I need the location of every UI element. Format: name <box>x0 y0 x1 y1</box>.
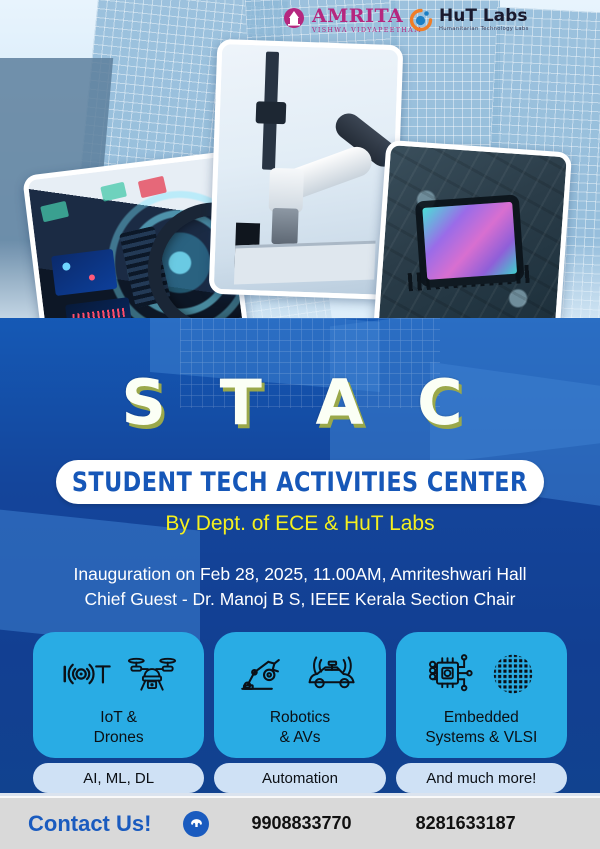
drone-icon <box>127 655 177 693</box>
telephone-icon[interactable] <box>183 811 209 837</box>
amrita-logo-subtitle: VISHWA VIDYAPEETHAM <box>312 27 422 33</box>
robot-wrist <box>269 168 305 213</box>
byline: By Dept. of ECE & HuT Labs <box>0 512 600 536</box>
category-card-robotics-avs[interactable]: Robotics & AVs <box>214 632 385 758</box>
robot-gripper <box>271 208 298 245</box>
chip-die <box>422 202 517 280</box>
category-label-line-1: Robotics <box>270 708 330 728</box>
phone-number-1[interactable]: 9908833770 <box>251 813 351 834</box>
footer: Contact Us! 9908833770 8281633187 <box>0 798 600 849</box>
microchip-icon <box>426 653 476 695</box>
silicon-wafer-icon <box>490 653 536 695</box>
amrita-logo: AMRITA VISHWA VIDYAPEETHAM <box>283 7 422 33</box>
category-label-line-2: & AVs <box>270 728 330 748</box>
page-title-capsule: STUDENT TECH ACTIVITIES CENTER <box>56 460 544 504</box>
topic-pill-list: AI, ML, DL Automation And much more! <box>33 763 567 793</box>
topic-pill-ai-ml-dl[interactable]: AI, ML, DL <box>33 763 204 793</box>
contact-label: Contact Us! <box>28 811 151 837</box>
telephone-glyph-icon <box>189 816 204 831</box>
robot-joint <box>256 101 287 124</box>
category-label-line-1: IoT & <box>94 708 144 728</box>
hud-marker-green-2 <box>100 182 127 202</box>
page-title-acronym: S T A C <box>0 372 600 434</box>
iot-icon <box>61 656 113 692</box>
top-photo-band: AMRITA VISHWA VIDYAPEETHAM HuT Labs Huma… <box>0 0 600 360</box>
hut-labs-logo-title: HuT Labs <box>439 8 529 25</box>
robot-arm-icon <box>239 654 289 694</box>
hut-labs-logo: HuT Labs Humanitarian Technology Labs <box>409 8 529 32</box>
category-card-list: IoT & Drones <box>33 632 567 758</box>
amrita-emblem-icon <box>283 7 305 33</box>
robot-arm-photo <box>209 39 404 300</box>
category-label-line-2: Drones <box>94 728 144 748</box>
poster: AMRITA VISHWA VIDYAPEETHAM HuT Labs Huma… <box>0 0 600 849</box>
page-title-expansion: STUDENT TECH ACTIVITIES CENTER <box>72 467 528 498</box>
amrita-logo-title: AMRITA <box>312 7 422 26</box>
hud-marker-red <box>138 176 167 198</box>
category-label-line-1: Embedded <box>425 708 537 728</box>
hut-labs-swoosh-icon <box>409 8 433 32</box>
work-surface <box>234 241 376 285</box>
category-card-embedded-vlsi[interactable]: Embedded Systems & VLSI <box>396 632 567 758</box>
topic-pill-automation[interactable]: Automation <box>214 763 385 793</box>
hut-labs-logo-subtitle: Humanitarian Technology Labs <box>439 27 529 32</box>
autonomous-car-icon <box>303 654 361 694</box>
phone-number-2[interactable]: 8281633187 <box>416 813 516 834</box>
event-details-line-2: Chief Guest - Dr. Manoj B S, IEEE Kerala… <box>0 587 600 612</box>
event-details: Inauguration on Feb 28, 2025, 11.00AM, A… <box>0 562 600 612</box>
topic-pill-more[interactable]: And much more! <box>396 763 567 793</box>
navigation-screen <box>51 249 117 296</box>
hud-marker-green-1 <box>40 201 69 222</box>
event-details-line-1: Inauguration on Feb 28, 2025, 11.00AM, A… <box>0 562 600 587</box>
category-card-iot-drones[interactable]: IoT & Drones <box>33 632 204 758</box>
category-label-line-2: Systems & VLSI <box>425 728 537 748</box>
